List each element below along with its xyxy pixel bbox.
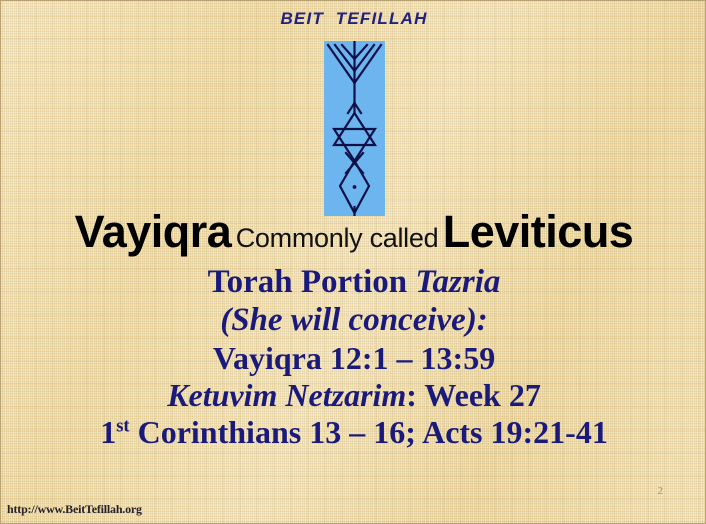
portion-details-block: Torah Portion Tazria (She will conceive)… — [1, 263, 706, 451]
torah-reading-reference: Vayiqra 12:1 – 13:59 — [1, 340, 706, 377]
english-book-name: Leviticus — [443, 206, 634, 257]
slide-canvas: BEIT TEFILLAH — [0, 0, 706, 524]
page-number: 2 — [658, 485, 664, 497]
ordinal-suffix: st — [116, 415, 129, 436]
torah-portion-line: Torah Portion Tazria — [1, 263, 706, 301]
website-url[interactable]: http://www.BeitTefillah.org — [7, 502, 142, 517]
ketuvim-netzarim-label: Ketuvim Netzarim — [167, 377, 406, 413]
page-title: BEIT TEFILLAH — [1, 9, 706, 29]
hebrew-book-name: Vayiqra — [75, 206, 232, 257]
torah-portion-name: Tazria — [415, 264, 500, 300]
commonly-called-label: Commonly called — [236, 223, 439, 253]
beit-tefillah-emblem — [324, 41, 385, 216]
torah-portion-label: Torah Portion — [208, 264, 416, 300]
brit-chadashah-text: Corinthians 13 – 16; Acts 19:21-41 — [130, 414, 608, 450]
ketuvim-netzarim-line: Ketuvim Netzarim: Week 27 — [1, 377, 706, 414]
ketuvim-netzarim-week: : Week 27 — [406, 377, 541, 413]
book-name-line: Vayiqra Commonly called Leviticus — [1, 209, 706, 254]
ordinal-number: 1 — [100, 414, 116, 450]
portion-translation-line: (She will conceive): — [1, 301, 706, 339]
brit-chadashah-reference: 1st Corinthians 13 – 16; Acts 19:21-41 — [1, 414, 706, 451]
emblem-center-dot-icon — [353, 185, 357, 189]
emblem-symbols-icon — [324, 41, 385, 216]
